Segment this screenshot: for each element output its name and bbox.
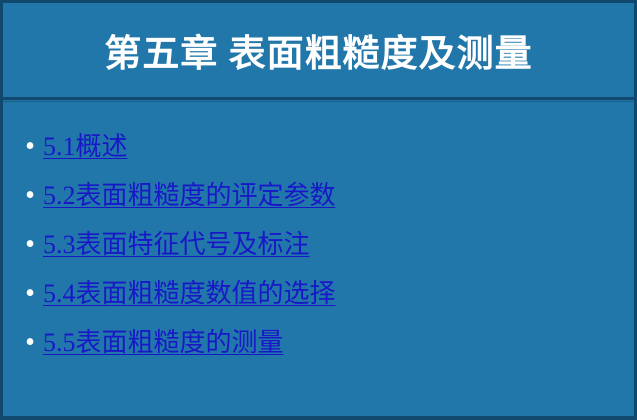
bullet-icon: •: [17, 324, 43, 362]
title-divider-highlight: [3, 101, 634, 102]
content-link-5[interactable]: 5.5表面粗糙度的测量: [43, 324, 284, 362]
list-item[interactable]: • 5.2表面粗糙度的评定参数: [3, 177, 634, 226]
bullet-icon: •: [17, 275, 43, 313]
slide-title-area: 第五章 表面粗糙度及测量: [3, 3, 634, 97]
list-item[interactable]: • 5.1概述: [3, 128, 634, 177]
slide-content-list: • 5.1概述 • 5.2表面粗糙度的评定参数 • 5.3表面特征代号及标注 •…: [3, 112, 634, 412]
page-title: 第五章 表面粗糙度及测量: [104, 23, 532, 77]
bullet-icon: •: [17, 128, 43, 166]
list-item[interactable]: • 5.4表面粗糙度数值的选择: [3, 275, 634, 324]
list-item[interactable]: • 5.3表面特征代号及标注: [3, 226, 634, 275]
list-item[interactable]: • 5.5表面粗糙度的测量: [3, 324, 634, 373]
content-link-3[interactable]: 5.3表面特征代号及标注: [43, 226, 310, 264]
bullet-icon: •: [17, 177, 43, 215]
bullet-icon: •: [17, 226, 43, 264]
slide-border-bottom: [0, 416, 637, 420]
title-divider: [3, 97, 634, 100]
content-link-4[interactable]: 5.4表面粗糙度数值的选择: [43, 275, 336, 313]
content-link-2[interactable]: 5.2表面粗糙度的评定参数: [43, 177, 336, 215]
content-link-1[interactable]: 5.1概述: [43, 128, 128, 166]
slide: 第五章 表面粗糙度及测量 • 5.1概述 • 5.2表面粗糙度的评定参数 • 5…: [0, 0, 637, 420]
